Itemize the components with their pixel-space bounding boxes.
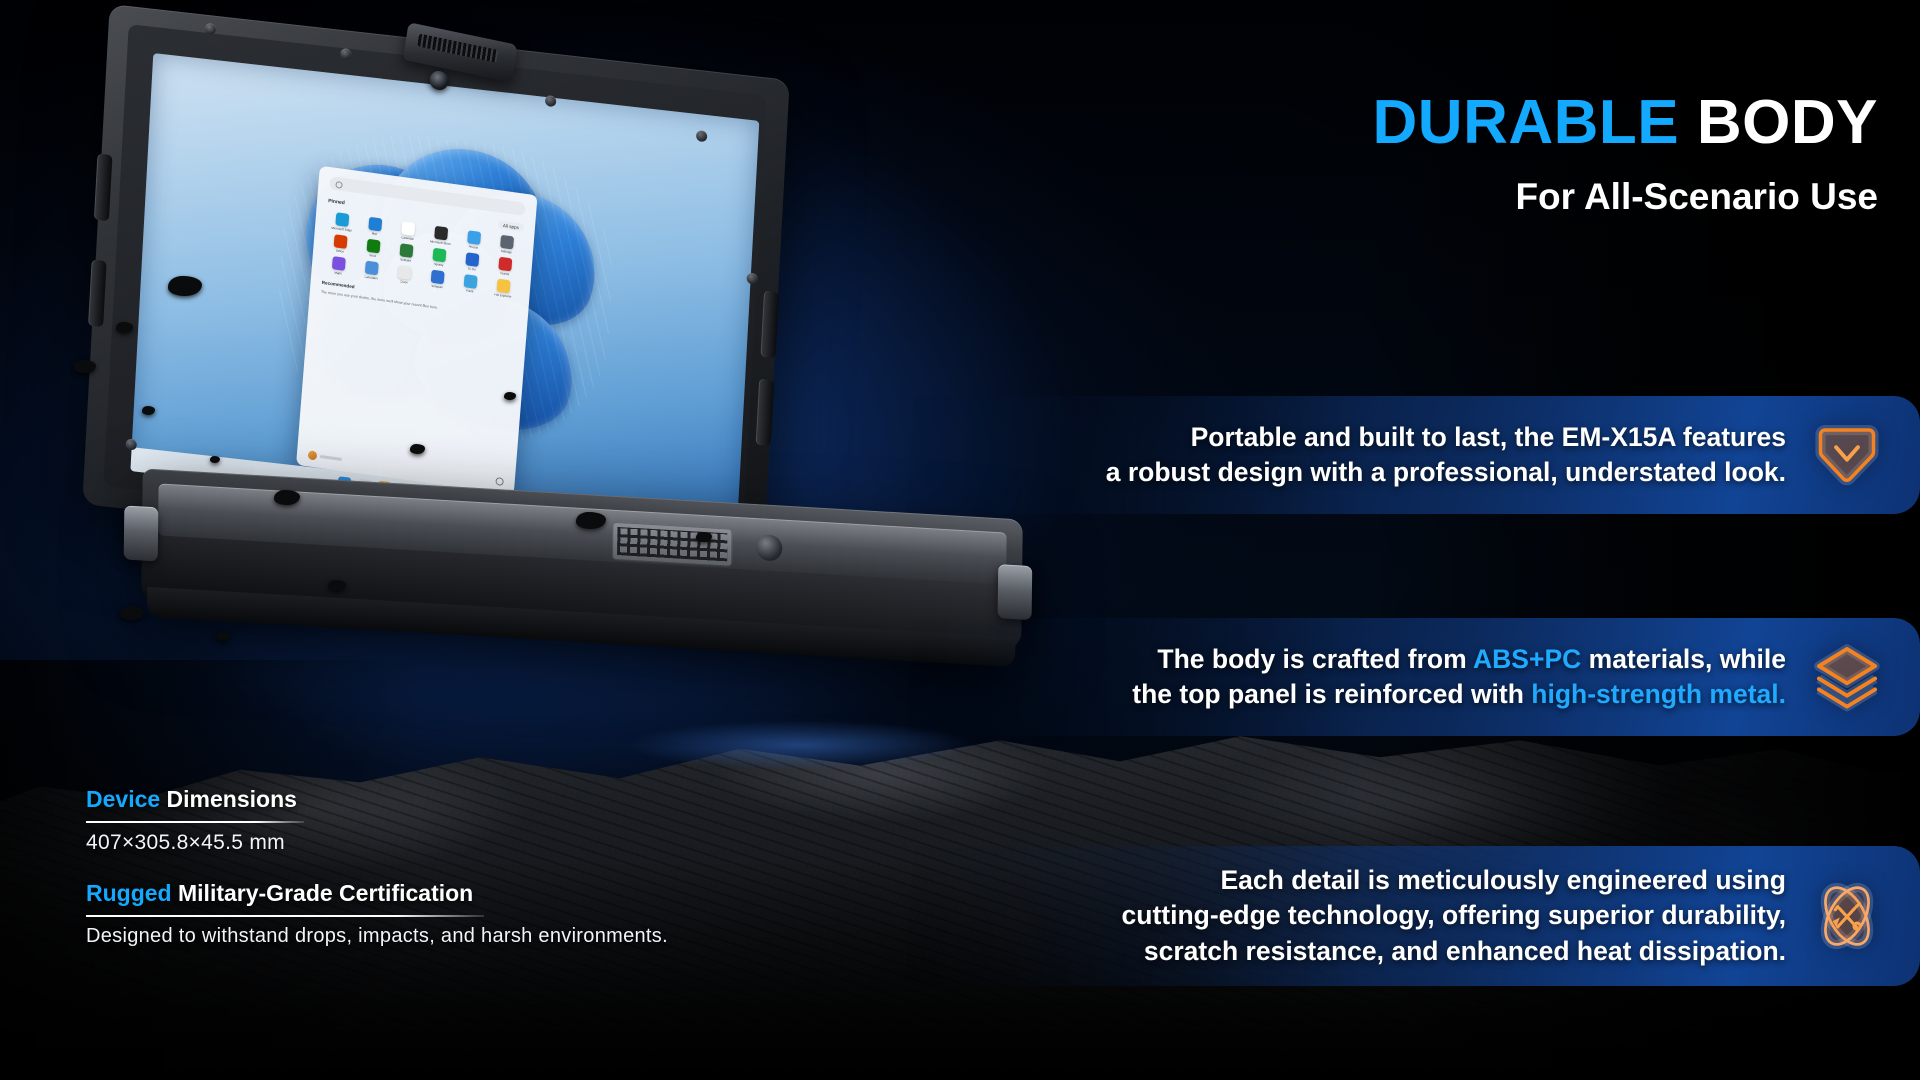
start-menu-app[interactable]: Xbox (357, 238, 389, 260)
lid-side-grip (94, 153, 113, 221)
layers-stack-icon (1808, 638, 1886, 716)
lid-side-grip (760, 291, 779, 359)
app-icon (365, 261, 379, 276)
laptop-hinge (998, 564, 1033, 620)
app-icon (498, 257, 512, 272)
app-icon (398, 265, 412, 280)
start-menu-app[interactable]: Teams (489, 256, 521, 278)
app-icon (401, 221, 415, 236)
feature-text: materials, while (1581, 644, 1786, 674)
spec-military-certification: Rugged Military-Grade Certification Desi… (86, 880, 668, 948)
start-menu-app[interactable]: Maps (322, 255, 354, 277)
debris-fragment (120, 606, 144, 620)
title-plain: BODY (1679, 88, 1878, 157)
start-menu-app[interactable]: Photos (458, 229, 490, 251)
power-icon[interactable] (495, 476, 504, 485)
app-icon (467, 230, 481, 245)
feature-card-text: Portable and built to last, the EM-X15A … (1106, 420, 1786, 491)
app-icon (335, 212, 349, 227)
page-subtitle: For All-Scenario Use (1373, 176, 1878, 218)
user-account-button[interactable] (308, 450, 343, 464)
app-label: Calendar (401, 236, 414, 241)
feature-card-materials: The body is crafted from ABS+PC material… (890, 618, 1920, 736)
feature-card-text: The body is crafted from ABS+PC material… (1132, 642, 1786, 713)
start-menu-app[interactable]: Office (324, 233, 356, 255)
spec-device-dimensions: Device Dimensions 407×305.8×45.5 mm (86, 786, 304, 855)
app-icon (367, 239, 381, 254)
app-label: Microsoft Store (430, 240, 451, 246)
vent-perforations (617, 527, 727, 561)
start-menu-app[interactable]: Solitaire (390, 242, 422, 264)
app-label: Teams (500, 272, 509, 276)
avatar (308, 450, 318, 460)
app-label: Settings (501, 250, 512, 255)
start-menu-app[interactable]: Mail (359, 216, 391, 238)
feature-line: The body is crafted from ABS+PC material… (1132, 642, 1786, 678)
app-icon (332, 256, 346, 271)
lid-side-grip (756, 379, 775, 447)
app-icon (500, 235, 514, 250)
feature-line: cutting-edge technology, offering superi… (1122, 898, 1786, 934)
headline-block: DURABLE BODY For All-Scenario Use (1373, 92, 1878, 218)
app-icon (434, 226, 448, 241)
app-label: Microsoft Edge (331, 227, 352, 233)
feature-line: the top panel is reinforced with high-st… (1132, 677, 1786, 713)
marketing-banner: Pinned All apps Microsoft EdgeMailCalend… (0, 0, 1920, 1080)
app-label: Mail (372, 232, 378, 236)
page-title: DURABLE BODY (1373, 92, 1878, 154)
spec-title: Rugged Military-Grade Certification (86, 880, 668, 907)
app-icon (431, 270, 445, 285)
feature-card-text: Each detail is meticulously engineered u… (1122, 863, 1786, 970)
lid-side-grip (88, 259, 107, 327)
spec-title-plain: Dimensions (160, 786, 297, 812)
app-label: File Explorer (494, 293, 512, 298)
feature-line: scratch resistance, and enhanced heat di… (1122, 934, 1786, 970)
start-menu-app[interactable]: Notepad (421, 269, 453, 291)
pinned-label: Pinned (328, 198, 345, 206)
user-name (320, 455, 342, 461)
spec-value: Designed to withstand drops, impacts, an… (86, 925, 668, 948)
start-menu-app[interactable]: Microsoft Edge (326, 211, 358, 233)
app-label: Clock (400, 281, 408, 285)
start-menu-app[interactable]: Paint (454, 273, 486, 295)
app-icon (465, 252, 479, 267)
app-label: Calculator (364, 276, 378, 281)
feature-card-portability: Portable and built to last, the EM-X15A … (890, 396, 1920, 514)
app-icon (497, 279, 511, 294)
app-label: Xbox (369, 254, 376, 258)
feature-line: a robust design with a professional, und… (1106, 455, 1786, 491)
app-label: Notepad (431, 285, 443, 290)
camera-vent-slot (417, 33, 498, 62)
start-menu-app[interactable]: Spotify (423, 247, 455, 269)
spec-value: 407×305.8×45.5 mm (86, 831, 304, 855)
spec-title-plain: Military-Grade Certification (172, 880, 474, 906)
spec-title: Device Dimensions (86, 786, 304, 813)
port-cover-knob (756, 534, 782, 562)
app-label: Solitaire (400, 258, 411, 263)
feature-highlight: ABS+PC (1473, 644, 1581, 674)
feature-text: the top panel is reinforced with (1132, 679, 1531, 709)
feature-text: The body is crafted from (1157, 644, 1473, 674)
app-label: Office (336, 250, 344, 254)
start-menu-app[interactable]: To Do (456, 251, 488, 273)
app-label: Spotify (434, 263, 444, 267)
divider (86, 821, 304, 823)
start-menu-app[interactable]: Calendar (392, 220, 424, 242)
all-apps-button[interactable]: All apps (498, 220, 525, 232)
feature-highlight: high-strength metal. (1531, 679, 1786, 709)
start-menu-app[interactable]: File Explorer (487, 278, 519, 300)
feature-line: Each detail is meticulously engineered u… (1122, 863, 1786, 899)
cooling-vent (612, 522, 732, 567)
laptop-screen: Pinned All apps Microsoft EdgeMailCalend… (130, 53, 759, 539)
app-icon (464, 274, 478, 289)
start-menu-app[interactable]: Clock (388, 264, 420, 286)
start-menu-app[interactable]: Settings (491, 234, 523, 256)
start-menu-app[interactable]: Microsoft Store (425, 225, 457, 247)
base-underside (147, 587, 1015, 667)
app-icon (334, 234, 348, 249)
app-icon (368, 217, 382, 232)
spec-title-accent: Device (86, 786, 160, 812)
atom-tools-icon (1808, 877, 1886, 955)
feature-line: Portable and built to last, the EM-X15A … (1106, 420, 1786, 456)
app-label: To Do (467, 268, 475, 272)
debris-fragment (216, 632, 230, 641)
app-label: Photos (468, 245, 478, 249)
feature-card-engineering: Each detail is meticulously engineered u… (890, 846, 1920, 986)
spec-title-accent: Rugged (86, 880, 172, 906)
divider (86, 915, 484, 917)
laptop-hinge (124, 505, 159, 561)
start-menu-app[interactable]: Calculator (355, 260, 387, 282)
shield-chevron-icon (1808, 416, 1886, 494)
title-accent: DURABLE (1373, 88, 1680, 157)
app-label: Maps (334, 272, 342, 276)
app-icon (432, 248, 446, 263)
app-icon (399, 243, 413, 258)
app-label: Paint (466, 290, 473, 294)
